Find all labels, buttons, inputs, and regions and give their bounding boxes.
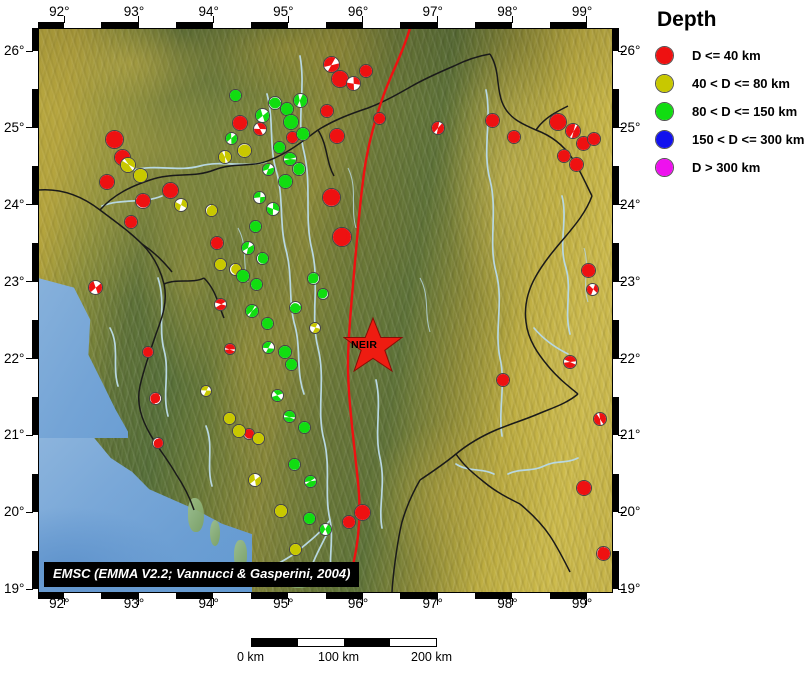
axis-tick-label: 26° xyxy=(620,43,640,58)
axis-tick-label: 25° xyxy=(4,120,24,135)
map-canvas[interactable]: NEIR EMSC (EMMA V2.2; Vannucci & Gasperi… xyxy=(38,28,613,593)
legend-item-label: D <= 40 km xyxy=(692,48,761,63)
axis-tick-label: 96° xyxy=(348,596,368,611)
legend-item-2[interactable]: 40 < D <= 80 km xyxy=(655,70,810,96)
focal-mechanism-beachball[interactable] xyxy=(593,412,607,426)
frame-segment xyxy=(32,89,38,127)
axis-tick-label: 20° xyxy=(620,504,640,519)
frame-segment xyxy=(613,397,619,435)
focal-mechanism-beachball[interactable] xyxy=(271,389,284,402)
axis-tick-label: 26° xyxy=(4,43,24,58)
focal-mechanism-beachball[interactable] xyxy=(317,288,329,300)
source-caption-text: EMSC (EMMA V2.2; Vannucci & Gasperini, 2… xyxy=(53,566,350,581)
island-shape xyxy=(210,520,220,546)
scale-bar-label: 0 km xyxy=(237,650,264,664)
focal-mechanism-beachball[interactable] xyxy=(274,504,288,518)
focal-mechanism-beachball[interactable] xyxy=(496,373,510,387)
legend-item-3[interactable]: 80 < D <= 150 km xyxy=(655,98,810,124)
focal-mechanism-beachball[interactable] xyxy=(262,163,275,176)
frame-segment xyxy=(32,397,38,435)
focal-mechanism-beachball[interactable] xyxy=(569,157,584,172)
frame-segment xyxy=(32,320,38,358)
focal-mechanism-beachball[interactable] xyxy=(586,283,599,296)
axis-tick xyxy=(26,127,33,128)
focal-mechanism-beachball[interactable] xyxy=(88,280,103,295)
axis-tick-label: 96° xyxy=(348,4,368,19)
beachball-icon xyxy=(655,102,674,121)
axis-tick-label: 23° xyxy=(4,274,24,289)
focal-mechanism-beachball[interactable] xyxy=(587,132,601,146)
focal-mechanism-beachball[interactable] xyxy=(431,121,445,135)
focal-mechanism-beachball[interactable] xyxy=(252,432,265,445)
axis-tick-label: 99° xyxy=(572,596,592,611)
axis-tick-label: 95° xyxy=(273,596,293,611)
axis-tick-label: 97° xyxy=(423,4,443,19)
axis-tick-label: 94° xyxy=(198,4,218,19)
axis-tick-label: 21° xyxy=(4,427,24,442)
axis-tick xyxy=(26,512,33,513)
frame-segment xyxy=(475,22,512,28)
frame-segment xyxy=(613,320,619,358)
axis-tick-label: 24° xyxy=(620,197,640,212)
axis-tick-label: 92° xyxy=(49,596,69,611)
axis-tick xyxy=(26,589,33,590)
scale-bar: 0 km100 km200 km xyxy=(251,638,437,647)
focal-mechanism-beachball[interactable] xyxy=(241,241,255,255)
focal-mechanism-beachball[interactable] xyxy=(298,421,311,434)
focal-mechanism-beachball[interactable] xyxy=(253,191,266,204)
seismicity-map-page: NEIR EMSC (EMMA V2.2; Vannucci & Gasperi… xyxy=(0,0,812,673)
focal-mechanism-beachball[interactable] xyxy=(262,341,275,354)
focal-mechanism-beachball[interactable] xyxy=(329,128,345,144)
axis-tick xyxy=(26,51,33,52)
focal-mechanism-beachball[interactable] xyxy=(224,343,236,355)
frame-segment xyxy=(613,474,619,512)
focal-mechanism-beachball[interactable] xyxy=(229,89,242,102)
axis-tick-label: 97° xyxy=(423,596,443,611)
focal-mechanism-beachball[interactable] xyxy=(354,504,371,521)
focal-mechanism-beachball[interactable] xyxy=(359,64,373,78)
focal-mechanism-beachball[interactable] xyxy=(507,130,521,144)
depth-legend: Depth D <= 40 km40 < D <= 80 km80 < D <=… xyxy=(655,8,810,182)
focal-mechanism-beachball[interactable] xyxy=(322,188,341,207)
frame-segment xyxy=(613,551,619,589)
focal-mechanism-beachball[interactable] xyxy=(596,546,611,561)
scale-bar-bar xyxy=(251,638,437,647)
focal-mechanism-beachball[interactable] xyxy=(255,108,270,123)
scale-bar-label: 100 km xyxy=(318,650,359,664)
focal-mechanism-beachball[interactable] xyxy=(135,193,151,209)
focal-mechanism-beachball[interactable] xyxy=(214,258,227,271)
focal-mechanism-beachball[interactable] xyxy=(373,112,386,125)
legend-rows: D <= 40 km40 < D <= 80 km80 < D <= 150 k… xyxy=(655,42,810,180)
focal-mechanism-beachball[interactable] xyxy=(285,358,298,371)
focal-mechanism-beachball[interactable] xyxy=(200,385,212,397)
focal-mechanism-beachball[interactable] xyxy=(292,162,306,176)
focal-mechanism-beachball[interactable] xyxy=(210,236,224,250)
focal-mechanism-beachball[interactable] xyxy=(149,392,162,405)
focal-mechanism-beachball[interactable] xyxy=(236,269,250,283)
focal-mechanism-beachball[interactable] xyxy=(205,204,218,217)
focal-mechanism-beachball[interactable] xyxy=(232,424,246,438)
frame-segment xyxy=(251,22,288,28)
axis-tick-label: 93° xyxy=(124,596,144,611)
focal-mechanism-beachball[interactable] xyxy=(174,198,188,212)
axis-tick-label: 98° xyxy=(497,596,517,611)
legend-title: Depth xyxy=(657,8,810,32)
legend-item-label: 40 < D <= 80 km xyxy=(692,76,790,91)
focal-mechanism-beachball[interactable] xyxy=(142,346,154,358)
focal-mechanism-beachball[interactable] xyxy=(250,278,263,291)
map-frame: NEIR EMSC (EMMA V2.2; Vannucci & Gasperi… xyxy=(38,28,613,593)
axis-tick xyxy=(26,281,33,282)
focal-mechanism-beachball[interactable] xyxy=(232,115,248,131)
focal-mechanism-beachball[interactable] xyxy=(218,150,232,164)
scale-bar-segment xyxy=(344,639,390,646)
focal-mechanism-beachball[interactable] xyxy=(162,182,179,199)
focal-mechanism-beachball[interactable] xyxy=(248,473,262,487)
legend-item-5[interactable]: D > 300 km xyxy=(655,154,810,180)
beachball-icon xyxy=(655,158,674,177)
axis-tick-label: 93° xyxy=(124,4,144,19)
axis-tick-label: 92° xyxy=(49,4,69,19)
focal-mechanism-beachball[interactable] xyxy=(214,298,227,311)
focal-mechanism-beachball[interactable] xyxy=(342,515,356,529)
focal-mechanism-beachball[interactable] xyxy=(303,512,316,525)
scale-bar-label: 200 km xyxy=(411,650,452,664)
axis-tick-label: 23° xyxy=(620,274,640,289)
focal-mechanism-beachball[interactable] xyxy=(152,437,164,449)
focal-mechanism-beachball[interactable] xyxy=(289,543,302,556)
focal-mechanism-beachball[interactable] xyxy=(304,475,317,488)
island-shape xyxy=(188,498,204,532)
focal-mechanism-beachball[interactable] xyxy=(320,104,334,118)
axis-tick-label: 24° xyxy=(4,197,24,212)
axis-tick xyxy=(26,358,33,359)
frame-segment xyxy=(400,22,437,28)
axis-tick-label: 98° xyxy=(497,4,517,19)
beachball-icon xyxy=(655,74,674,93)
axis-tick xyxy=(26,435,33,436)
focal-mechanism-beachball[interactable] xyxy=(245,304,259,318)
axis-tick-label: 94° xyxy=(198,596,218,611)
focal-mechanism-beachball[interactable] xyxy=(581,263,596,278)
focal-mechanism-beachball[interactable] xyxy=(319,523,332,536)
frame-segment xyxy=(32,243,38,281)
source-caption: EMSC (EMMA V2.2; Vannucci & Gasperini, 2… xyxy=(44,562,359,587)
frame-segment xyxy=(326,22,363,28)
focal-mechanism-beachball[interactable] xyxy=(307,272,320,285)
focal-mechanism-beachball[interactable] xyxy=(225,132,238,145)
focal-mechanism-beachball[interactable] xyxy=(99,174,115,190)
focal-mechanism-beachball[interactable] xyxy=(309,322,321,334)
frame-segment xyxy=(32,166,38,204)
frame-segment xyxy=(32,28,38,51)
legend-item-label: D > 300 km xyxy=(692,160,760,175)
focal-mechanism-beachball[interactable] xyxy=(283,410,296,423)
focal-mechanism-beachball[interactable] xyxy=(237,143,252,158)
axis-tick xyxy=(26,204,33,205)
focal-mechanism-beachball[interactable] xyxy=(253,122,267,136)
focal-mechanism-beachball[interactable] xyxy=(563,355,577,369)
frame-segment xyxy=(613,166,619,204)
focal-mechanism-beachball[interactable] xyxy=(296,127,310,141)
frame-segment xyxy=(550,22,587,28)
focal-mechanism-beachball[interactable] xyxy=(485,113,500,128)
focal-mechanism-beachball[interactable] xyxy=(576,480,592,496)
frame-segment xyxy=(38,22,64,28)
frame-segment xyxy=(613,89,619,127)
focal-mechanism-beachball[interactable] xyxy=(278,174,293,189)
legend-item-4[interactable]: 150 < D <= 300 km xyxy=(655,126,810,152)
frame-segment xyxy=(176,22,213,28)
frame-segment xyxy=(101,22,138,28)
focal-mechanism-beachball[interactable] xyxy=(266,202,280,216)
scale-bar-segment xyxy=(298,639,344,646)
focal-mechanism-beachball[interactable] xyxy=(332,227,352,247)
legend-item-label: 150 < D <= 300 km xyxy=(692,132,804,147)
focal-mechanism-beachball[interactable] xyxy=(124,215,138,229)
focal-mechanism-beachball[interactable] xyxy=(249,220,262,233)
focal-mechanism-beachball[interactable] xyxy=(289,301,302,314)
frame-segment xyxy=(613,28,619,51)
frame-segment xyxy=(32,474,38,512)
axis-tick-label: 22° xyxy=(620,351,640,366)
legend-item-label: 80 < D <= 150 km xyxy=(692,104,797,119)
legend-item-1[interactable]: D <= 40 km xyxy=(655,42,810,68)
axis-tick-label: 20° xyxy=(4,504,24,519)
focal-mechanism-beachball[interactable] xyxy=(105,130,124,149)
scale-bar-segment xyxy=(252,639,298,646)
axis-tick-label: 21° xyxy=(620,427,640,442)
focal-mechanism-beachball[interactable] xyxy=(223,412,236,425)
focal-mechanism-beachball[interactable] xyxy=(256,252,269,265)
axis-tick-label: 95° xyxy=(273,4,293,19)
beachball-icon xyxy=(655,46,674,65)
focal-mechanism-beachball[interactable] xyxy=(346,76,361,91)
focal-mechanism-beachball[interactable] xyxy=(288,458,301,471)
focal-mechanism-beachball[interactable] xyxy=(261,317,274,330)
focal-mechanism-beachball[interactable] xyxy=(293,93,308,108)
axis-tick-label: 99° xyxy=(572,4,592,19)
frame-segment xyxy=(613,243,619,281)
axis-tick-label: 22° xyxy=(4,351,24,366)
axis-tick-label: 25° xyxy=(620,120,640,135)
frame-segment xyxy=(32,551,38,589)
axis-tick-label: 19° xyxy=(620,581,640,596)
focal-mechanism-beachball[interactable] xyxy=(133,168,148,183)
axis-tick-label: 19° xyxy=(4,581,24,596)
scale-bar-segment xyxy=(390,639,436,646)
beachball-icon xyxy=(655,130,674,149)
epicenter-label: NEIR xyxy=(351,339,377,351)
